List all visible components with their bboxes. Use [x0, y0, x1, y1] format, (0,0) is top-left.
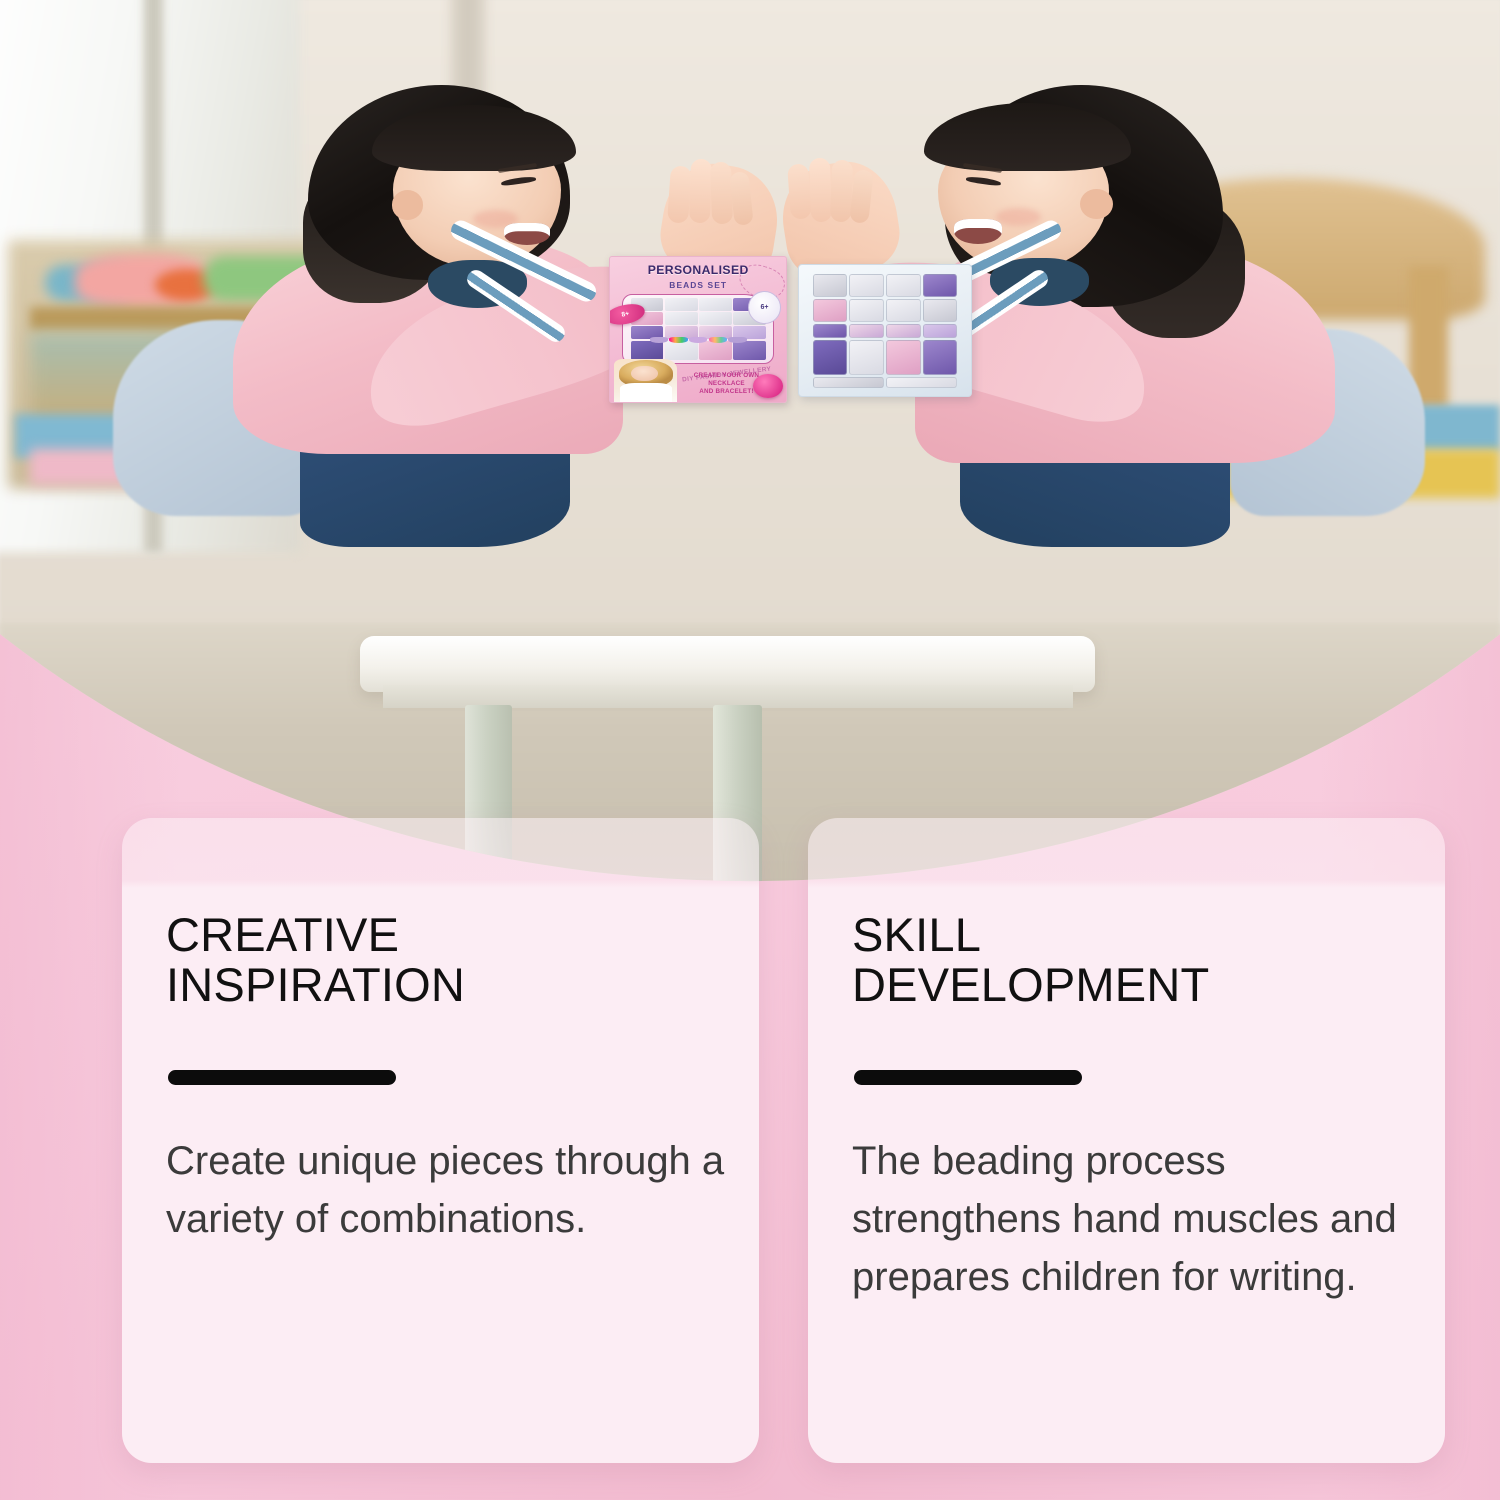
product-box: PERSONALISED BEADS SET [609, 256, 788, 403]
age-badge: 6+ [748, 291, 782, 325]
left-child-finger [689, 159, 712, 224]
product-box-subtitle: BEADS SET [621, 280, 776, 290]
right-child-ear [1080, 189, 1113, 219]
right-child-finger [787, 163, 812, 220]
right-child-cheek [996, 208, 1041, 226]
bead-compartment [733, 341, 766, 360]
bead-compartment [923, 324, 958, 338]
heart-charms-row [647, 337, 749, 343]
bead-compartment [886, 340, 921, 374]
bead-compartment [849, 299, 884, 322]
title-divider-rule [854, 1070, 1082, 1085]
bead-compartment [813, 274, 848, 297]
feature-card-body: Create unique pieces through a variety o… [166, 1132, 725, 1248]
bead-compartment [699, 312, 732, 325]
bead-compartment [813, 340, 848, 374]
feature-card-title: CREATIVE INSPIRATION [166, 910, 725, 1011]
left-child-ear [392, 190, 423, 219]
bead-compartment [886, 324, 921, 338]
bead-compartment [886, 274, 921, 297]
bead-compartment [699, 341, 732, 360]
bead-compartment [923, 274, 958, 297]
left-child-finger [710, 162, 733, 225]
product-box-title: PERSONALISED [621, 263, 776, 277]
bead-compartment-cord [813, 377, 884, 388]
feature-card-content: SKILL DEVELOPMENT The beading process st… [852, 910, 1411, 1306]
heart-charm-icon [689, 337, 707, 343]
feature-card-content: CREATIVE INSPIRATION Create unique piece… [166, 910, 725, 1248]
bead-compartment [813, 324, 848, 338]
title-divider-rule [168, 1070, 396, 1085]
model-photo [614, 359, 678, 402]
feature-card-creative-inspiration[interactable]: CREATIVE INSPIRATION Create unique piece… [122, 818, 759, 1463]
bead-compartment [886, 299, 921, 322]
feature-card-skill-development[interactable]: SKILL DEVELOPMENT The beading process st… [808, 818, 1445, 1463]
heart-charm-icon [728, 337, 746, 343]
left-child-finger [667, 165, 692, 223]
hero-photo-panel: PERSONALISED BEADS SET [0, 0, 1500, 890]
hero-photo: PERSONALISED BEADS SET [0, 0, 1500, 890]
bead-compartment-cord [886, 377, 957, 388]
heart-charm-icon [709, 337, 727, 343]
bead-compartment [631, 341, 664, 360]
right-child-finger [809, 157, 832, 222]
bead-compartment [923, 299, 958, 322]
pink-seal-icon [753, 374, 783, 398]
model-shirt [620, 383, 672, 402]
right-child-mouth [954, 219, 1002, 244]
bead-compartment [849, 324, 884, 338]
product-feature-graphic: PERSONALISED BEADS SET [0, 0, 1500, 1500]
bead-compartment [665, 312, 698, 325]
table-top [360, 636, 1095, 691]
bead-compartment [699, 298, 732, 311]
model-face [631, 366, 658, 382]
bead-compartment [849, 274, 884, 297]
product-box-bead-grid [631, 298, 766, 360]
feature-card-title: SKILL DEVELOPMENT [852, 910, 1411, 1011]
bead-compartment [923, 340, 958, 374]
heart-charm-icon [669, 337, 687, 343]
bead-compartment [813, 299, 848, 322]
bead-compartment [665, 298, 698, 311]
bead-tray-grid [813, 274, 958, 388]
bead-compartment [849, 340, 884, 374]
heart-charm-icon [650, 337, 668, 343]
bead-compartment [665, 341, 698, 360]
left-child-mouth [504, 223, 551, 245]
product-bead-tray [798, 264, 972, 397]
feature-card-body: The beading process strengthens hand mus… [852, 1132, 1411, 1306]
